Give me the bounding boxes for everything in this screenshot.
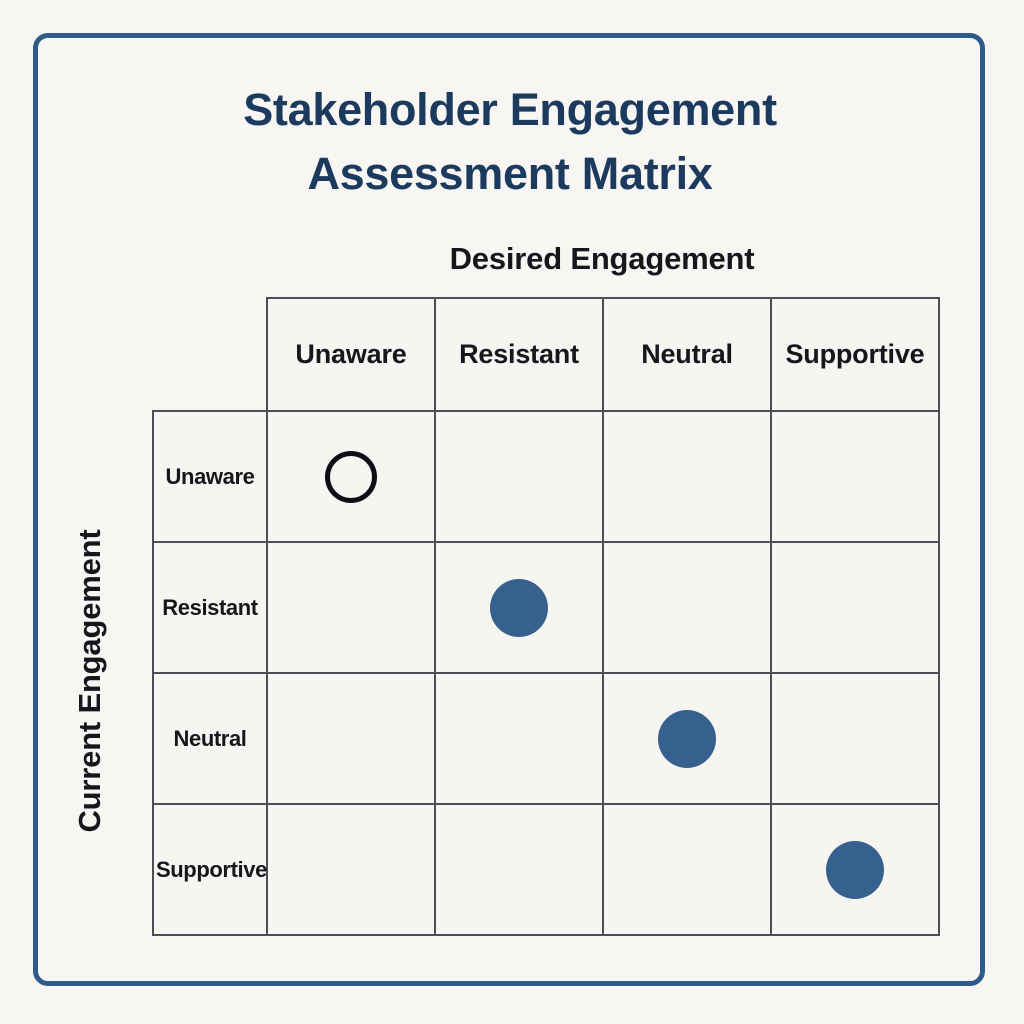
column-header-neutral: Neutral bbox=[603, 298, 771, 411]
cell-neutral-supportive[interactable] bbox=[771, 673, 939, 804]
column-header-unaware: Unaware bbox=[267, 298, 435, 411]
table-row: Supportive bbox=[153, 804, 939, 935]
cell-supportive-unaware[interactable] bbox=[267, 804, 435, 935]
table-row: Neutral bbox=[153, 673, 939, 804]
cell-unaware-neutral[interactable] bbox=[603, 411, 771, 542]
matrix-header-row: Unaware Resistant Neutral Supportive bbox=[153, 298, 939, 411]
table-row: Unaware bbox=[153, 411, 939, 542]
row-header-supportive: Supportive bbox=[153, 804, 267, 935]
row-header-neutral: Neutral bbox=[153, 673, 267, 804]
cell-resistant-neutral[interactable] bbox=[603, 542, 771, 673]
cell-supportive-supportive[interactable] bbox=[771, 804, 939, 935]
cell-unaware-supportive[interactable] bbox=[771, 411, 939, 542]
cell-resistant-unaware[interactable] bbox=[267, 542, 435, 673]
column-header-resistant: Resistant bbox=[435, 298, 603, 411]
matrix-corner-spacer bbox=[153, 298, 267, 411]
row-header-resistant: Resistant bbox=[153, 542, 267, 673]
marker-open-circle bbox=[325, 451, 377, 503]
table-row: Resistant bbox=[153, 542, 939, 673]
y-axis-title: Current Engagement bbox=[72, 416, 108, 946]
matrix-canvas: Stakeholder Engagement Assessment Matrix… bbox=[0, 0, 1024, 1024]
marker-filled-circle bbox=[658, 710, 716, 768]
page-title-line-1: Stakeholder Engagement bbox=[60, 78, 960, 142]
engagement-matrix-table: Unaware Resistant Neutral Supportive Una… bbox=[152, 297, 940, 936]
column-header-supportive: Supportive bbox=[771, 298, 939, 411]
cell-neutral-neutral[interactable] bbox=[603, 673, 771, 804]
cell-unaware-unaware[interactable] bbox=[267, 411, 435, 542]
cell-unaware-resistant[interactable] bbox=[435, 411, 603, 542]
marker-filled-circle bbox=[826, 841, 884, 899]
page-title-line-2: Assessment Matrix bbox=[60, 142, 960, 206]
cell-resistant-resistant[interactable] bbox=[435, 542, 603, 673]
row-header-unaware: Unaware bbox=[153, 411, 267, 542]
cell-neutral-resistant[interactable] bbox=[435, 673, 603, 804]
cell-resistant-supportive[interactable] bbox=[771, 542, 939, 673]
marker-filled-circle bbox=[490, 579, 548, 637]
x-axis-title: Desired Engagement bbox=[266, 241, 938, 277]
cell-supportive-neutral[interactable] bbox=[603, 804, 771, 935]
page-title: Stakeholder Engagement Assessment Matrix bbox=[60, 78, 960, 206]
cell-supportive-resistant[interactable] bbox=[435, 804, 603, 935]
cell-neutral-unaware[interactable] bbox=[267, 673, 435, 804]
